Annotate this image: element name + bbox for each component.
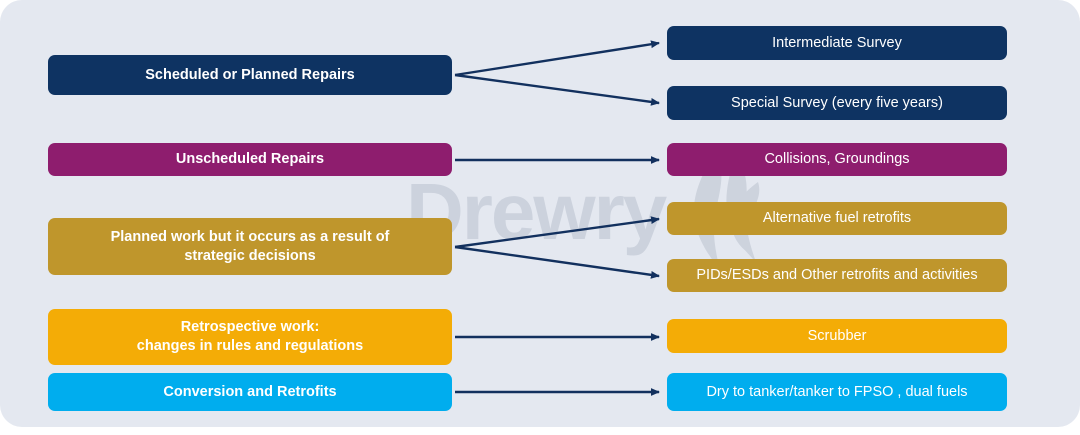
example-box-intermediate-survey[interactable]: Intermediate Survey: [667, 26, 1007, 60]
example-box-pids-esds-retrofits[interactable]: PIDs/ESDs and Other retrofits and activi…: [667, 259, 1007, 292]
example-box-alternative-fuel-retrofits[interactable]: Alternative fuel retrofits: [667, 202, 1007, 235]
connector-strategic-to-pids-esds: [455, 247, 659, 276]
connector-scheduled-to-special-survey: [455, 75, 659, 103]
diagram-canvas: Drewry Scheduled: [0, 0, 1080, 435]
connector-scheduled-to-intermediate-survey: [455, 43, 659, 75]
example-box-dry-to-tanker-fpso[interactable]: Dry to tanker/tanker to FPSO , dual fuel…: [667, 373, 1007, 411]
category-box-strategic[interactable]: Planned work but it occurs as a result o…: [48, 218, 452, 275]
category-box-conversion[interactable]: Conversion and Retrofits: [48, 373, 452, 411]
connector-strategic-to-alternative-fuel: [455, 219, 659, 247]
category-box-scheduled[interactable]: Scheduled or Planned Repairs: [48, 55, 452, 95]
example-box-scrubber[interactable]: Scrubber: [667, 319, 1007, 353]
example-box-special-survey[interactable]: Special Survey (every five years): [667, 86, 1007, 120]
category-box-retrospective[interactable]: Retrospective work: changes in rules and…: [48, 309, 452, 365]
category-box-unscheduled[interactable]: Unscheduled Repairs: [48, 143, 452, 176]
example-box-collisions-groundings[interactable]: Collisions, Groundings: [667, 143, 1007, 176]
